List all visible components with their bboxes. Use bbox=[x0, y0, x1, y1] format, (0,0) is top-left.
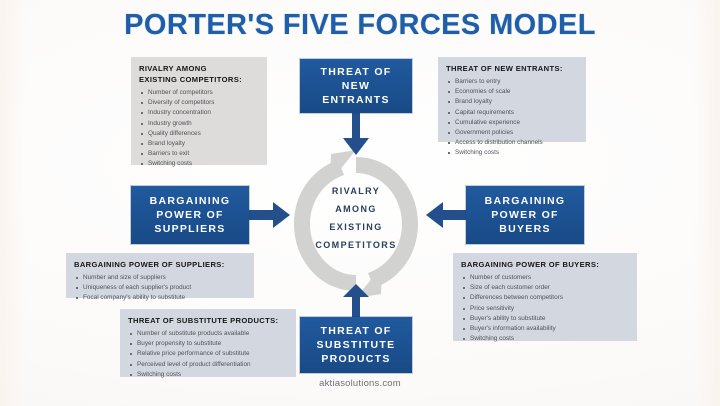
arrow-left-buyers bbox=[425, 200, 469, 235]
panel-buyers-list: Number of customers Size of each custome… bbox=[461, 273, 630, 344]
porters-five-forces-diagram: PORTER'S FIVE FORCES MODEL RIVALRY AMONG… bbox=[0, 0, 720, 406]
panel-rivalry-list: Number of competitors Diversity of compe… bbox=[139, 88, 260, 170]
panel-new-entrants-heading: THREAT OF NEW ENTRANTS: bbox=[446, 63, 579, 74]
list-item: Uniqueness of each supplier's product bbox=[74, 283, 247, 293]
panel-rivalry-heading: RIVALRY AMONG EXISTING COMPETITORS: bbox=[139, 63, 260, 85]
center-line-2: AMONG bbox=[296, 200, 416, 218]
list-item: Number of competitors bbox=[139, 88, 260, 98]
list-item: Number and size of suppliers bbox=[74, 273, 247, 283]
panel-substitute-heading: THREAT OF SUBSTITUTE PRODUCTS: bbox=[128, 315, 289, 326]
force-box-threat-of-substitute-products[interactable]: THREAT OF SUBSTITUTE PRODUCTS bbox=[300, 317, 412, 373]
panel-bargaining-power-of-buyers: BARGAINING POWER OF BUYERS: Number of cu… bbox=[453, 253, 637, 341]
panel-suppliers-heading: BARGAINING POWER OF SUPPLIERS: bbox=[74, 259, 247, 270]
list-item: Relative price performance of substitute bbox=[128, 349, 289, 359]
list-item: Industry growth bbox=[139, 119, 260, 129]
panel-threat-of-new-entrants: THREAT OF NEW ENTRANTS: Barriers to entr… bbox=[438, 57, 586, 142]
list-item: Buyer's information availability bbox=[461, 324, 630, 334]
force-new-entrants-line-2: NEW bbox=[300, 79, 412, 93]
force-suppliers-line-1: BARGAINING bbox=[131, 194, 249, 208]
panel-rivalry-heading-line-2: EXISTING COMPETITORS: bbox=[139, 74, 260, 85]
list-item: Switching costs bbox=[446, 148, 579, 158]
panel-new-entrants-list: Barriers to entry Economies of scale Bra… bbox=[446, 77, 579, 159]
force-box-threat-of-new-entrants[interactable]: THREAT OF NEW ENTRANTS bbox=[300, 59, 412, 113]
panel-substitute-list: Number of substitute products available … bbox=[128, 329, 289, 380]
panel-rivalry-among-existing-competitors: RIVALRY AMONG EXISTING COMPETITORS: Numb… bbox=[131, 57, 267, 165]
force-buyers-line-1: BARGAINING bbox=[466, 194, 584, 208]
force-new-entrants-line-3: ENTRANTS bbox=[300, 93, 412, 107]
list-item: Buyer's ability to substitute bbox=[461, 314, 630, 324]
panel-threat-of-substitute-products: THREAT OF SUBSTITUTE PRODUCTS: Number of… bbox=[120, 309, 296, 377]
list-item: Access to distribution channels bbox=[446, 138, 579, 148]
list-item: Brand loyalty bbox=[139, 139, 260, 149]
list-item: Barriers to entry bbox=[446, 77, 579, 87]
list-item: Brand loyalty bbox=[446, 97, 579, 107]
center-line-3: EXISTING bbox=[296, 218, 416, 236]
list-item: Switching costs bbox=[139, 159, 260, 169]
force-substitute-line-2: SUBSTITUTE bbox=[300, 338, 412, 352]
list-item: Number of substitute products available bbox=[128, 329, 289, 339]
list-item: Focal company's ability to substitute bbox=[74, 293, 247, 303]
force-new-entrants-line-1: THREAT OF bbox=[300, 65, 412, 79]
list-item: Cumulative experience bbox=[446, 118, 579, 128]
force-suppliers-line-2: POWER OF bbox=[131, 208, 249, 222]
force-buyers-line-3: BUYERS bbox=[466, 222, 584, 236]
list-item: Buyer propensity to substitute bbox=[128, 339, 289, 349]
list-item: Diversity of competitors bbox=[139, 98, 260, 108]
list-item: Size of each customer order bbox=[461, 283, 630, 293]
panel-rivalry-heading-line-1: RIVALRY AMONG bbox=[139, 64, 207, 73]
center-line-4: COMPETITORS bbox=[296, 236, 416, 254]
force-box-bargaining-power-of-buyers[interactable]: BARGAINING POWER OF BUYERS bbox=[466, 186, 584, 244]
page-title: PORTER'S FIVE FORCES MODEL bbox=[0, 9, 720, 42]
center-rivalry-label: RIVALRY AMONG EXISTING COMPETITORS bbox=[296, 182, 416, 254]
arrow-right-suppliers bbox=[247, 200, 291, 235]
list-item: Economies of scale bbox=[446, 87, 579, 97]
page-edge-shading-right bbox=[694, 0, 720, 406]
list-item: Government policies bbox=[446, 128, 579, 138]
source-attribution: aktiasolutions.com bbox=[0, 378, 720, 389]
panel-suppliers-list: Number and size of suppliers Uniqueness … bbox=[74, 273, 247, 304]
force-substitute-line-1: THREAT OF bbox=[300, 324, 412, 338]
list-item: Perceived level of product differentiati… bbox=[128, 360, 289, 370]
list-item: Barriers to exit bbox=[139, 149, 260, 159]
panel-buyers-heading: BARGAINING POWER OF BUYERS: bbox=[461, 259, 630, 270]
page-edge-shading-left bbox=[0, 0, 26, 406]
force-substitute-line-3: PRODUCTS bbox=[300, 352, 412, 366]
force-suppliers-line-3: SUPPLIERS bbox=[131, 222, 249, 236]
list-item: Price sensitivity bbox=[461, 304, 630, 314]
force-buyers-line-2: POWER OF bbox=[466, 208, 584, 222]
list-item: Switching costs bbox=[461, 334, 630, 344]
force-box-bargaining-power-of-suppliers[interactable]: BARGAINING POWER OF SUPPLIERS bbox=[131, 186, 249, 244]
list-item: Number of customers bbox=[461, 273, 630, 283]
list-item: Industry concentration bbox=[139, 108, 260, 118]
list-item: Capital requirements bbox=[446, 108, 579, 118]
panel-bargaining-power-of-suppliers: BARGAINING POWER OF SUPPLIERS: Number an… bbox=[66, 253, 254, 298]
arrow-down-new-entrants bbox=[341, 112, 371, 161]
center-line-1: RIVALRY bbox=[296, 182, 416, 200]
list-item: Quality differences bbox=[139, 129, 260, 139]
list-item: Differences between competitors bbox=[461, 293, 630, 303]
